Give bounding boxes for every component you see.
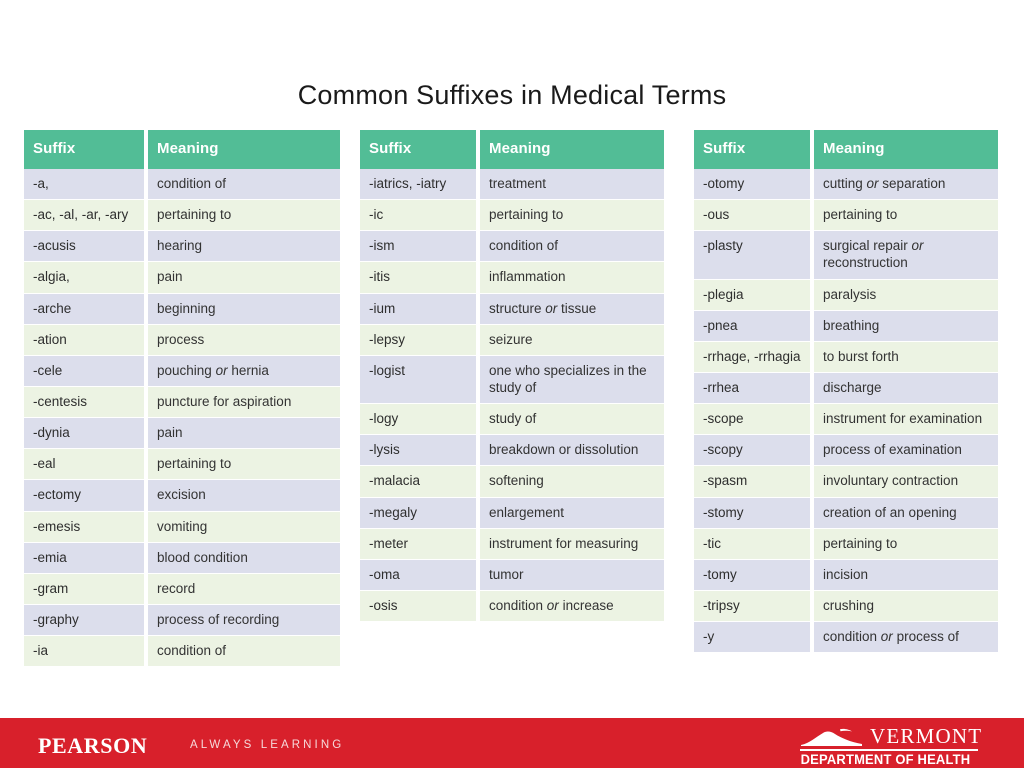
table-row: -ac, -al, -ar, -arypertaining to xyxy=(24,200,340,231)
cell-suffix: -osis xyxy=(360,591,480,622)
cell-meaning: treatment xyxy=(480,169,664,200)
cell-meaning: pertaining to xyxy=(480,200,664,231)
cell-meaning: condition or process of xyxy=(814,622,998,653)
pearson-logo: PEARSON xyxy=(38,733,147,759)
cell-meaning: cutting or separation xyxy=(814,169,998,200)
cell-meaning: instrument for measuring xyxy=(480,529,664,560)
vermont-mountain-icon xyxy=(800,728,866,747)
cell-suffix: -lepsy xyxy=(360,325,480,356)
cell-suffix: -malacia xyxy=(360,466,480,497)
cell-meaning: creation of an opening xyxy=(814,498,998,529)
table-row: -omatumor xyxy=(360,560,664,591)
cell-suffix: -algia, xyxy=(24,262,148,293)
cell-meaning: pertaining to xyxy=(814,529,998,560)
table-row: -ealpertaining to xyxy=(24,449,340,480)
cell-suffix: -gram xyxy=(24,574,148,605)
cell-suffix: -tic xyxy=(694,529,814,560)
table-row: -plegiaparalysis xyxy=(694,280,998,311)
table-row: -graphyprocess of recording xyxy=(24,605,340,636)
table-row: -stomycreation of an opening xyxy=(694,498,998,529)
table-row: -a,condition of xyxy=(24,169,340,200)
vermont-wordmark-row: VERMONT xyxy=(800,726,980,749)
vermont-divider-rule xyxy=(800,749,978,751)
cell-suffix: -iatrics, -iatry xyxy=(360,169,480,200)
table-row: -algia,pain xyxy=(24,262,340,293)
cell-meaning: pertaining to xyxy=(148,200,340,231)
table-row: -lepsyseizure xyxy=(360,325,664,356)
cell-meaning: structure or tissue xyxy=(480,294,664,325)
cell-suffix: -spasm xyxy=(694,466,814,497)
cell-meaning: pertaining to xyxy=(148,449,340,480)
table-row: -celepouching or hernia xyxy=(24,356,340,387)
cell-meaning: discharge xyxy=(814,373,998,404)
column-header-meaning: Meaning xyxy=(148,130,340,169)
cell-suffix: -tripsy xyxy=(694,591,814,622)
table-row: -osiscondition or increase xyxy=(360,591,664,622)
table-row: -icpertaining to xyxy=(360,200,664,231)
cell-suffix: -oma xyxy=(360,560,480,591)
table-row: -iatrics, -iatrytreatment xyxy=(360,169,664,200)
column-header-meaning: Meaning xyxy=(814,130,998,169)
cell-meaning: pain xyxy=(148,262,340,293)
cell-meaning: softening xyxy=(480,466,664,497)
table-row: -megalyenlargement xyxy=(360,498,664,529)
cell-meaning: puncture for aspiration xyxy=(148,387,340,418)
table-row: -rrheadischarge xyxy=(694,373,998,404)
cell-meaning: seizure xyxy=(480,325,664,356)
cell-meaning: pouching or hernia xyxy=(148,356,340,387)
cell-suffix: -dynia xyxy=(24,418,148,449)
table-row: -lysisbreakdown or dissolution xyxy=(360,435,664,466)
cell-suffix: -ous xyxy=(694,200,814,231)
column-header-suffix: Suffix xyxy=(24,130,148,169)
table-row: -gramrecord xyxy=(24,574,340,605)
table-row: -tripsycrushing xyxy=(694,591,998,622)
page-title: Common Suffixes in Medical Terms xyxy=(0,80,1024,111)
table-row: -emesisvomiting xyxy=(24,512,340,543)
suffix-table-2: Suffix Meaning -iatrics, -iatrytreatment… xyxy=(360,130,664,622)
cell-meaning: enlargement xyxy=(480,498,664,529)
table-row: -archebeginning xyxy=(24,294,340,325)
table-header: Suffix Meaning xyxy=(694,130,998,169)
cell-suffix: -ism xyxy=(360,231,480,262)
cell-suffix: -eal xyxy=(24,449,148,480)
cell-meaning: condition or increase xyxy=(480,591,664,622)
cell-meaning: surgical repair or reconstruction xyxy=(814,231,998,279)
suffix-tables-container: Suffix Meaning -a,condition of-ac, -al, … xyxy=(0,130,1024,690)
table-row: -pneabreathing xyxy=(694,311,998,342)
table-row: -logystudy of xyxy=(360,404,664,435)
cell-meaning: record xyxy=(148,574,340,605)
cell-suffix: -ectomy xyxy=(24,480,148,511)
table-row: -tomyincision xyxy=(694,560,998,591)
cell-suffix: -ation xyxy=(24,325,148,356)
cell-suffix: -emia xyxy=(24,543,148,574)
table-row: -logistone who specializes in the study … xyxy=(360,356,664,404)
cell-suffix: -ic xyxy=(360,200,480,231)
table-header: Suffix Meaning xyxy=(360,130,664,169)
cell-meaning: hearing xyxy=(148,231,340,262)
cell-suffix: -stomy xyxy=(694,498,814,529)
cell-suffix: -rrhage, -rrhagia xyxy=(694,342,814,373)
table-row: -iacondition of xyxy=(24,636,340,667)
table-row: -acusishearing xyxy=(24,231,340,262)
table-row: -scopyprocess of examination xyxy=(694,435,998,466)
cell-meaning: breakdown or dissolution xyxy=(480,435,664,466)
cell-suffix: -emesis xyxy=(24,512,148,543)
table-row: -otomycutting or separation xyxy=(694,169,998,200)
cell-suffix: -ac, -al, -ar, -ary xyxy=(24,200,148,231)
cell-suffix: -a, xyxy=(24,169,148,200)
cell-suffix: -rrhea xyxy=(694,373,814,404)
vermont-wordmark: VERMONT xyxy=(870,725,982,747)
suffix-table-1: Suffix Meaning -a,condition of-ac, -al, … xyxy=(24,130,340,667)
pearson-tagline: ALWAYS LEARNING xyxy=(190,739,344,751)
cell-meaning: incision xyxy=(814,560,998,591)
cell-meaning: vomiting xyxy=(148,512,340,543)
cell-suffix: -cele xyxy=(24,356,148,387)
table-header: Suffix Meaning xyxy=(24,130,340,169)
vermont-subtitle: DEPARTMENT OF HEALTH xyxy=(800,752,971,767)
table-row: -ectomyexcision xyxy=(24,480,340,511)
cell-meaning: to burst forth xyxy=(814,342,998,373)
table-row: -iumstructure or tissue xyxy=(360,294,664,325)
table-row: -meterinstrument for measuring xyxy=(360,529,664,560)
cell-meaning: paralysis xyxy=(814,280,998,311)
table-row: -scopeinstrument for examination xyxy=(694,404,998,435)
cell-suffix: -ium xyxy=(360,294,480,325)
header-row: Suffix Meaning xyxy=(24,130,340,169)
table-row: -malaciasoftening xyxy=(360,466,664,497)
cell-meaning: process xyxy=(148,325,340,356)
cell-meaning: condition of xyxy=(480,231,664,262)
table-body: -iatrics, -iatrytreatment-icpertaining t… xyxy=(360,169,664,622)
cell-meaning: inflammation xyxy=(480,262,664,293)
cell-meaning: condition of xyxy=(148,169,340,200)
table-row: -ycondition or process of xyxy=(694,622,998,653)
cell-suffix: -graphy xyxy=(24,605,148,636)
cell-suffix: -plasty xyxy=(694,231,814,279)
suffix-table-3: Suffix Meaning -otomycutting or separati… xyxy=(694,130,998,653)
table-row: -ationprocess xyxy=(24,325,340,356)
cell-meaning: pertaining to xyxy=(814,200,998,231)
cell-meaning: study of xyxy=(480,404,664,435)
table-row: -emiablood condition xyxy=(24,543,340,574)
cell-suffix: -y xyxy=(694,622,814,653)
cell-suffix: -tomy xyxy=(694,560,814,591)
cell-suffix: -logist xyxy=(360,356,480,404)
cell-suffix: -plegia xyxy=(694,280,814,311)
cell-meaning: crushing xyxy=(814,591,998,622)
cell-meaning: beginning xyxy=(148,294,340,325)
cell-meaning: process of examination xyxy=(814,435,998,466)
table-body: -otomycutting or separation-ouspertainin… xyxy=(694,169,998,653)
table-row: -spasminvoluntary contraction xyxy=(694,466,998,497)
table-row: -rrhage, -rrhagiato burst forth xyxy=(694,342,998,373)
table-row: -itisinflammation xyxy=(360,262,664,293)
cell-meaning: breathing xyxy=(814,311,998,342)
table-row: -dyniapain xyxy=(24,418,340,449)
table-body: -a,condition of-ac, -al, -ar, -arypertai… xyxy=(24,169,340,667)
cell-meaning: excision xyxy=(148,480,340,511)
cell-suffix: -centesis xyxy=(24,387,148,418)
header-row: Suffix Meaning xyxy=(694,130,998,169)
cell-meaning: condition of xyxy=(148,636,340,667)
cell-meaning: instrument for examination xyxy=(814,404,998,435)
cell-suffix: -scope xyxy=(694,404,814,435)
cell-meaning: pain xyxy=(148,418,340,449)
cell-suffix: -lysis xyxy=(360,435,480,466)
column-header-meaning: Meaning xyxy=(480,130,664,169)
cell-suffix: -scopy xyxy=(694,435,814,466)
table-row: -ouspertaining to xyxy=(694,200,998,231)
cell-suffix: -pnea xyxy=(694,311,814,342)
cell-suffix: -megaly xyxy=(360,498,480,529)
table-row: -plastysurgical repair or reconstruction xyxy=(694,231,998,279)
cell-suffix: -otomy xyxy=(694,169,814,200)
header-row: Suffix Meaning xyxy=(360,130,664,169)
cell-suffix: -logy xyxy=(360,404,480,435)
cell-meaning: involuntary contraction xyxy=(814,466,998,497)
table-row: -ismcondition of xyxy=(360,231,664,262)
cell-suffix: -itis xyxy=(360,262,480,293)
table-row: -ticpertaining to xyxy=(694,529,998,560)
table-row: -centesispuncture for aspiration xyxy=(24,387,340,418)
cell-meaning: process of recording xyxy=(148,605,340,636)
cell-suffix: -arche xyxy=(24,294,148,325)
column-header-suffix: Suffix xyxy=(694,130,814,169)
cell-meaning: blood condition xyxy=(148,543,340,574)
cell-meaning: one who specializes in the study of xyxy=(480,356,664,404)
cell-suffix: -acusis xyxy=(24,231,148,262)
column-header-suffix: Suffix xyxy=(360,130,480,169)
cell-suffix: -meter xyxy=(360,529,480,560)
cell-meaning: tumor xyxy=(480,560,664,591)
cell-suffix: -ia xyxy=(24,636,148,667)
vermont-department-of-health-logo: VERMONT DEPARTMENT OF HEALTH xyxy=(800,726,980,766)
